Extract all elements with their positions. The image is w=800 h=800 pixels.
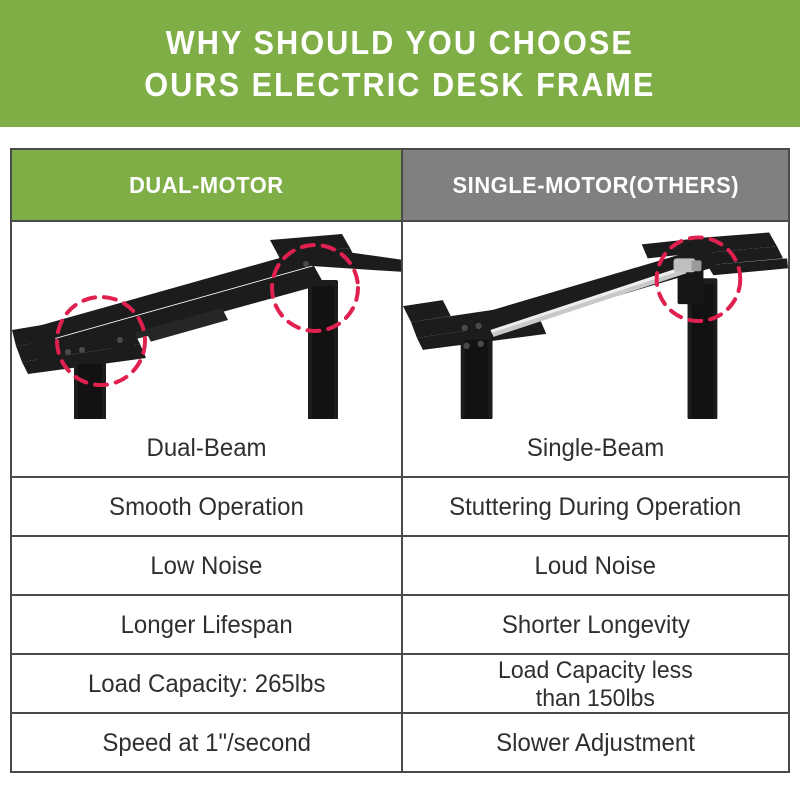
feature-text: Speed at 1"/second bbox=[102, 729, 311, 758]
feature-text: Longer Lifespan bbox=[120, 611, 292, 640]
feature-cell-single: Load Capacity less than 150lbs bbox=[401, 655, 788, 714]
feature-text: Shorter Longevity bbox=[501, 611, 689, 640]
feature-text: Slower Adjustment bbox=[496, 729, 695, 758]
column-header-dual-motor: DUAL-MOTOR bbox=[12, 150, 401, 220]
column-header-single-motor: SINGLE-MOTOR(OTHERS) bbox=[401, 150, 788, 220]
dual-beam-frame-illustration bbox=[12, 222, 401, 419]
feature-cell-single: Stuttering During Operation bbox=[401, 478, 788, 537]
feature-cell-dual: Speed at 1"/second bbox=[12, 714, 401, 773]
table-header-row: DUAL-MOTOR SINGLE-MOTOR(OTHERS) bbox=[12, 150, 788, 220]
feature-text: Load Capacity: 265lbs bbox=[88, 670, 325, 699]
feature-cell-single: Loud Noise bbox=[401, 537, 788, 596]
table-row: Speed at 1"/second Slower Adjustment bbox=[12, 712, 788, 771]
feature-cell-single: Slower Adjustment bbox=[401, 714, 788, 773]
comparison-table: DUAL-MOTOR SINGLE-MOTOR(OTHERS) bbox=[10, 148, 790, 773]
feature-cell-dual: Smooth Operation bbox=[12, 478, 401, 537]
feature-text: Load Capacity less than 150lbs bbox=[498, 657, 693, 712]
feature-cell-dual: Longer Lifespan bbox=[12, 596, 401, 655]
table-row: Dual-Beam Single-Beam bbox=[12, 417, 788, 476]
table-row: Low Noise Loud Noise bbox=[12, 535, 788, 594]
column-header-label: DUAL-MOTOR bbox=[129, 172, 284, 199]
feature-text: Smooth Operation bbox=[109, 493, 304, 522]
table-image-row bbox=[12, 220, 788, 417]
feature-cell-dual: Low Noise bbox=[12, 537, 401, 596]
single-motor-frame-image bbox=[401, 222, 788, 419]
table-row: Load Capacity: 265lbs Load Capacity less… bbox=[12, 653, 788, 712]
header-banner: WHY SHOULD YOU CHOOSE OURS ELECTRIC DESK… bbox=[0, 0, 800, 127]
feature-cell-single: Single-Beam bbox=[401, 419, 788, 478]
table-row: Smooth Operation Stuttering During Opera… bbox=[12, 476, 788, 535]
dual-motor-frame-image bbox=[12, 222, 401, 419]
page-title: WHY SHOULD YOU CHOOSE OURS ELECTRIC DESK… bbox=[144, 22, 655, 105]
single-beam-frame-illustration bbox=[403, 222, 788, 419]
feature-text: Stuttering During Operation bbox=[449, 493, 741, 522]
feature-text: Dual-Beam bbox=[146, 434, 266, 463]
feature-text: Loud Noise bbox=[535, 552, 656, 581]
feature-cell-single: Shorter Longevity bbox=[401, 596, 788, 655]
feature-cell-dual: Load Capacity: 265lbs bbox=[12, 655, 401, 714]
feature-text: Single-Beam bbox=[527, 434, 664, 463]
feature-cell-dual: Dual-Beam bbox=[12, 419, 401, 478]
table-row: Longer Lifespan Shorter Longevity bbox=[12, 594, 788, 653]
feature-text: Low Noise bbox=[150, 552, 262, 581]
column-header-label: SINGLE-MOTOR(OTHERS) bbox=[452, 172, 739, 199]
